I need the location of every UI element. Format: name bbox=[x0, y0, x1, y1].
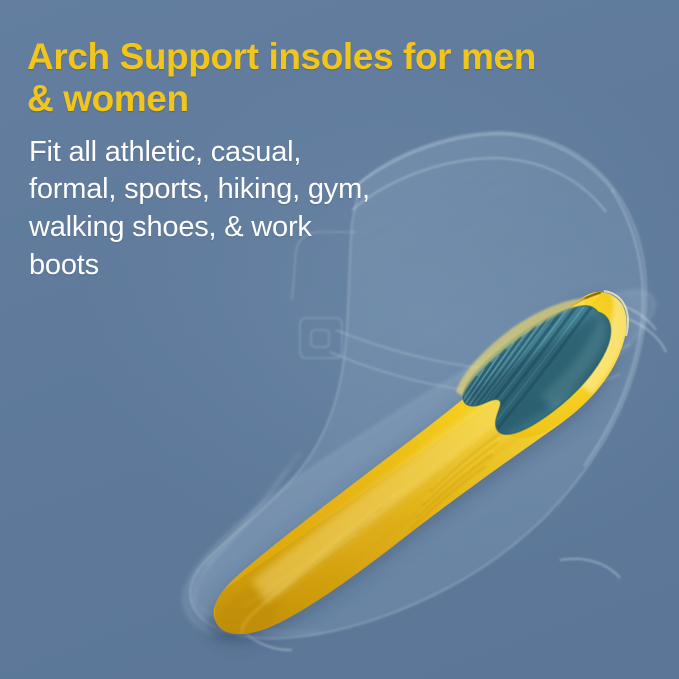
feature-description: Fit all athletic, casual, formal, sports… bbox=[29, 134, 389, 285]
page-title: Arch Support insoles for men & women bbox=[27, 36, 537, 120]
product-image-canvas: Arch Support insoles for men & women Fit… bbox=[0, 0, 679, 679]
marketing-copy: Arch Support insoles for men & women Fit… bbox=[27, 36, 567, 284]
